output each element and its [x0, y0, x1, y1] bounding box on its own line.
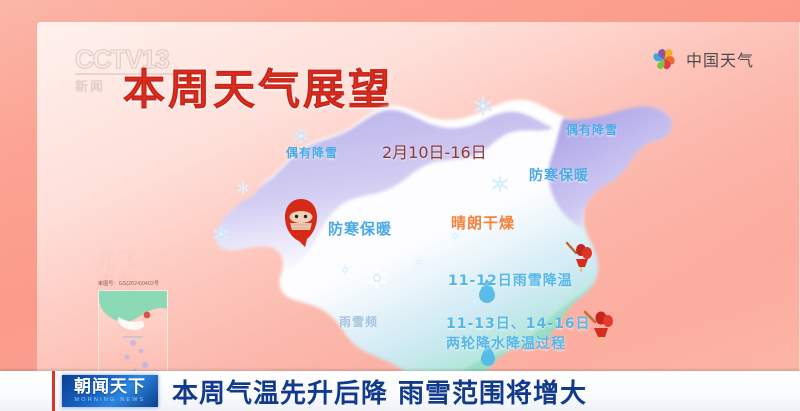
red-accent-bar [52, 371, 55, 411]
mask-man-icon [281, 197, 321, 249]
map-date-range: 2月10日-16日 [382, 139, 487, 163]
label-rain-snow-frequent: 雨雪频 [339, 313, 378, 330]
china-weather-logo-text: 中国天气 [686, 47, 754, 71]
pinwheel-icon [651, 46, 677, 72]
label-keep-warm-northeast: 防寒保暖 [529, 165, 589, 185]
label-snow-northwest: 偶有降雪 [286, 144, 338, 161]
label-clear-dry: 晴朗干燥 [451, 212, 515, 233]
headline-text: 本周气温先升后降 雨雪范围将增大 [172, 373, 587, 409]
label-rounds-dates: 11-13日、14-16日 [446, 313, 591, 333]
program-badge: 朝闻天下 MORNING NEWS [62, 375, 158, 407]
label-cooling-11-12: 11-12日雨雪降温 [448, 270, 573, 290]
china-weather-logo: 中国天气 [651, 46, 754, 72]
weather-slide-panel: CCTV13 新闻 中国天气 本周天 [37, 22, 800, 411]
label-rounds-description: 两轮降水降温过程 [446, 333, 566, 353]
map-approval-number: 审图号：GS(2024)0402号 [98, 280, 188, 287]
broadcast-screen: 飞龙在天 瑞雪兆丰年 CCTV13 新闻 [0, 0, 800, 411]
program-name-cn: 朝闻天下 [74, 378, 146, 396]
lower-third-bar: 朝闻天下 MORNING NEWS 本周气温先升后降 雨雪范围将增大 [0, 371, 800, 411]
label-keep-warm-west: 防寒保暖 [328, 218, 392, 239]
program-name-en: MORNING NEWS [74, 396, 145, 404]
china-weather-map [197, 74, 697, 409]
label-snow-northeast: 偶有降雪 [566, 121, 618, 138]
